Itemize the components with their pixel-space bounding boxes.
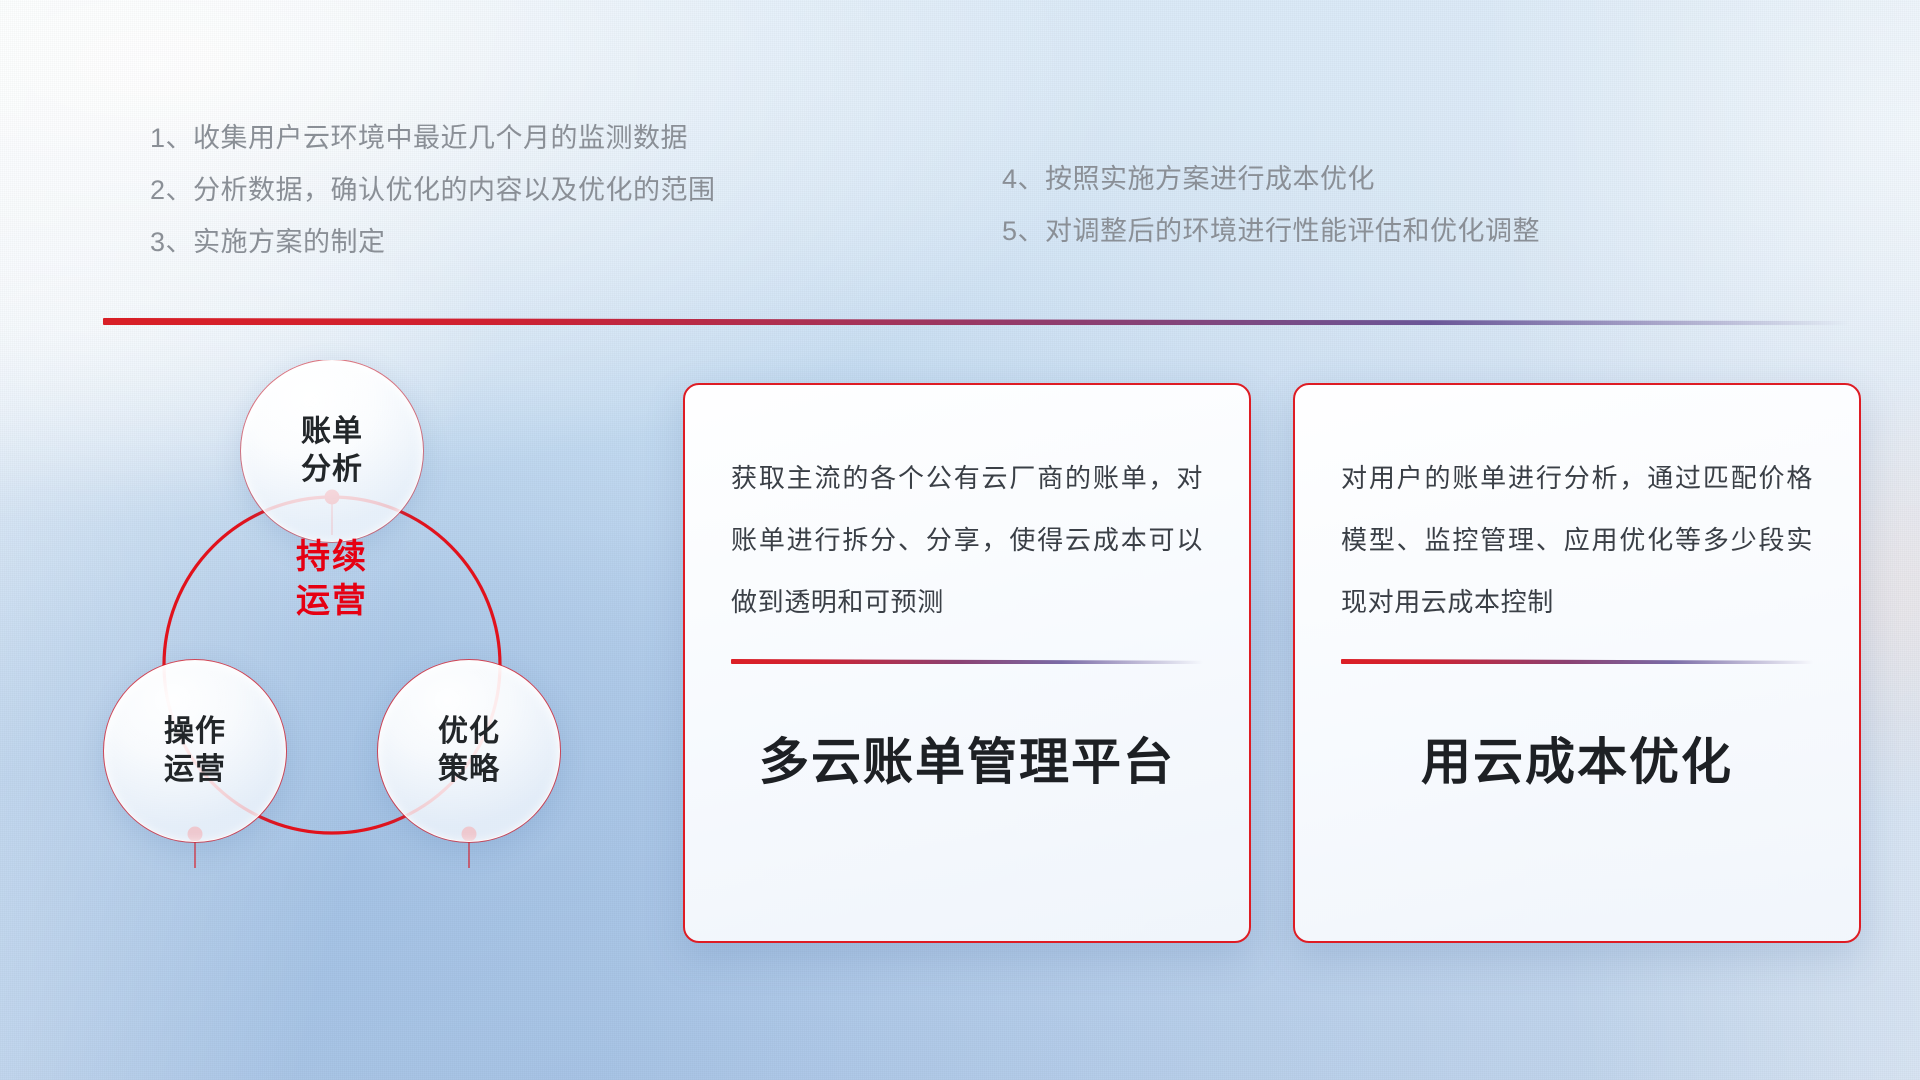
card-title: 多云账单管理平台 xyxy=(731,722,1203,794)
venn-circle-operations[interactable]: 操作 运营 xyxy=(104,660,286,842)
card-description: 对用户的账单进行分析，通过匹配价格模型、监控管理、应用优化等多少段实现对用云成本… xyxy=(1341,447,1813,633)
card-red-rule xyxy=(1341,659,1813,664)
card-multi-cloud-billing-platform[interactable]: 获取主流的各个公有云厂商的账单，对账单进行拆分、分享，使得云成本可以做到透明和可… xyxy=(683,383,1251,943)
card-red-rule xyxy=(731,659,1203,664)
card-cloud-cost-optimization[interactable]: 对用户的账单进行分析，通过匹配价格模型、监控管理、应用优化等多少段实现对用云成本… xyxy=(1293,383,1861,943)
steps-list-right: 4、按照实施方案进行成本优化 5、对调整后的环境进行性能评估和优化调整 xyxy=(1002,153,1540,257)
step-item: 1、收集用户云环境中最近几个月的监测数据 xyxy=(150,112,716,164)
venn-circle-label: 优化 策略 xyxy=(438,713,500,790)
venn-center-label: 持续 运营 xyxy=(242,535,422,623)
steps-list-left: 1、收集用户云环境中最近几个月的监测数据 2、分析数据，确认优化的内容以及优化的… xyxy=(150,112,716,268)
step-item: 2、分析数据，确认优化的内容以及优化的范围 xyxy=(150,164,716,216)
venn-circle-billing-analysis[interactable]: 账单 分析 xyxy=(241,360,423,542)
card-title: 用云成本优化 xyxy=(1341,722,1813,794)
card-description: 获取主流的各个公有云厂商的账单，对账单进行拆分、分享，使得云成本可以做到透明和可… xyxy=(731,447,1203,633)
venn-circle-optimization[interactable]: 优化 策略 xyxy=(378,660,560,842)
step-item: 4、按照实施方案进行成本优化 xyxy=(1002,153,1540,205)
venn-circle-label: 操作 运营 xyxy=(164,713,226,790)
step-item: 3、实施方案的制定 xyxy=(150,216,716,268)
step-item: 5、对调整后的环境进行性能评估和优化调整 xyxy=(1002,205,1540,257)
venn-diagram: 账单 分析 操作 运营 优化 策略 持续 运营 xyxy=(96,360,656,930)
venn-circle-label: 账单 分析 xyxy=(301,413,363,490)
